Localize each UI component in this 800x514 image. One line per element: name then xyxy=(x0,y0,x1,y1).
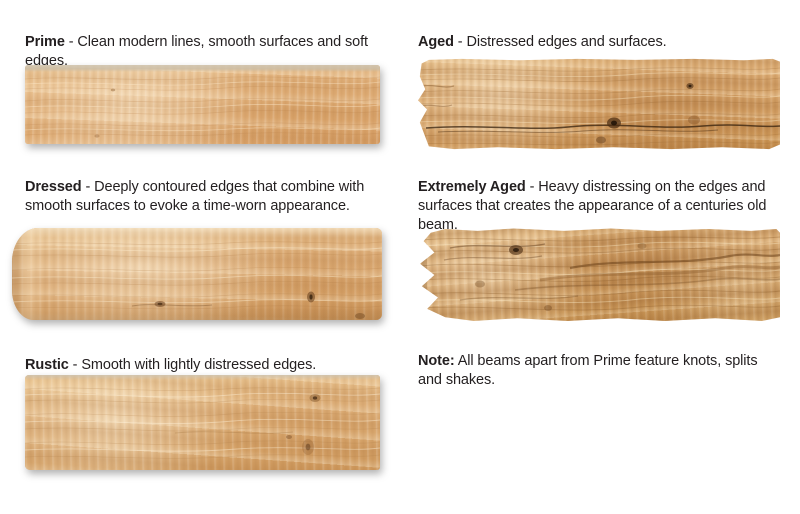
entry-aged: Aged - Distressed edges and surfaces. xyxy=(418,18,788,66)
description-prime: Clean modern lines, smooth surfaces and … xyxy=(25,34,368,69)
rustic-beam-top-chamfer xyxy=(25,375,380,380)
dressed-beam-sample xyxy=(12,228,382,320)
separator-rustic: - xyxy=(69,357,82,373)
dressed-beam-surface xyxy=(12,228,382,320)
separator-extremely-aged: - xyxy=(526,179,539,195)
rustic-beam-sample xyxy=(25,375,380,470)
term-aged: Aged xyxy=(418,34,454,50)
prime-beam-top-chamfer xyxy=(25,65,380,72)
description-aged: Distressed edges and surfaces. xyxy=(466,34,666,50)
caption-dressed: Dressed - Deeply contoured edges that co… xyxy=(25,178,380,217)
prime-beam-surface xyxy=(25,65,380,144)
prime-beam-sample xyxy=(25,65,380,144)
term-rustic: Rustic xyxy=(25,357,69,373)
entry-dressed: Dressed - Deeply contoured edges that co… xyxy=(25,163,380,231)
entry-note: Note: All beams apart from Prime feature… xyxy=(418,337,778,405)
aged-beam-surface xyxy=(418,58,780,150)
dressed-beam-left-contour xyxy=(12,228,46,320)
extremely-aged-beam-surface xyxy=(420,228,780,322)
dressed-beam-bottom-edge xyxy=(12,308,382,320)
separator-aged: - xyxy=(454,34,467,50)
beam-finishes-page: Prime - Clean modern lines, smooth surfa… xyxy=(0,0,800,514)
caption-rustic: Rustic - Smooth with lightly distressed … xyxy=(25,356,380,375)
rustic-beam-surface xyxy=(25,375,380,470)
left-column: Prime - Clean modern lines, smooth surfa… xyxy=(0,0,400,514)
caption-extremely-aged: Extremely Aged - Heavy distressing on th… xyxy=(418,178,790,236)
dressed-beam-top-edge xyxy=(12,228,382,238)
term-extremely-aged: Extremely Aged xyxy=(418,179,526,195)
description-note: All beams apart from Prime feature knots… xyxy=(418,353,758,388)
description-rustic: Smooth with lightly distressed edges. xyxy=(81,357,316,373)
term-dressed: Dressed xyxy=(25,179,82,195)
separator-dressed: - xyxy=(82,179,95,195)
extremely-aged-beam-sample xyxy=(420,228,780,322)
caption-note: Note: All beams apart from Prime feature… xyxy=(418,352,778,391)
separator-prime: - xyxy=(65,34,78,50)
term-note: Note: xyxy=(418,353,455,369)
term-prime: Prime xyxy=(25,34,65,50)
aged-beam-sample xyxy=(418,58,780,150)
caption-aged: Aged - Distressed edges and surfaces. xyxy=(418,33,788,52)
